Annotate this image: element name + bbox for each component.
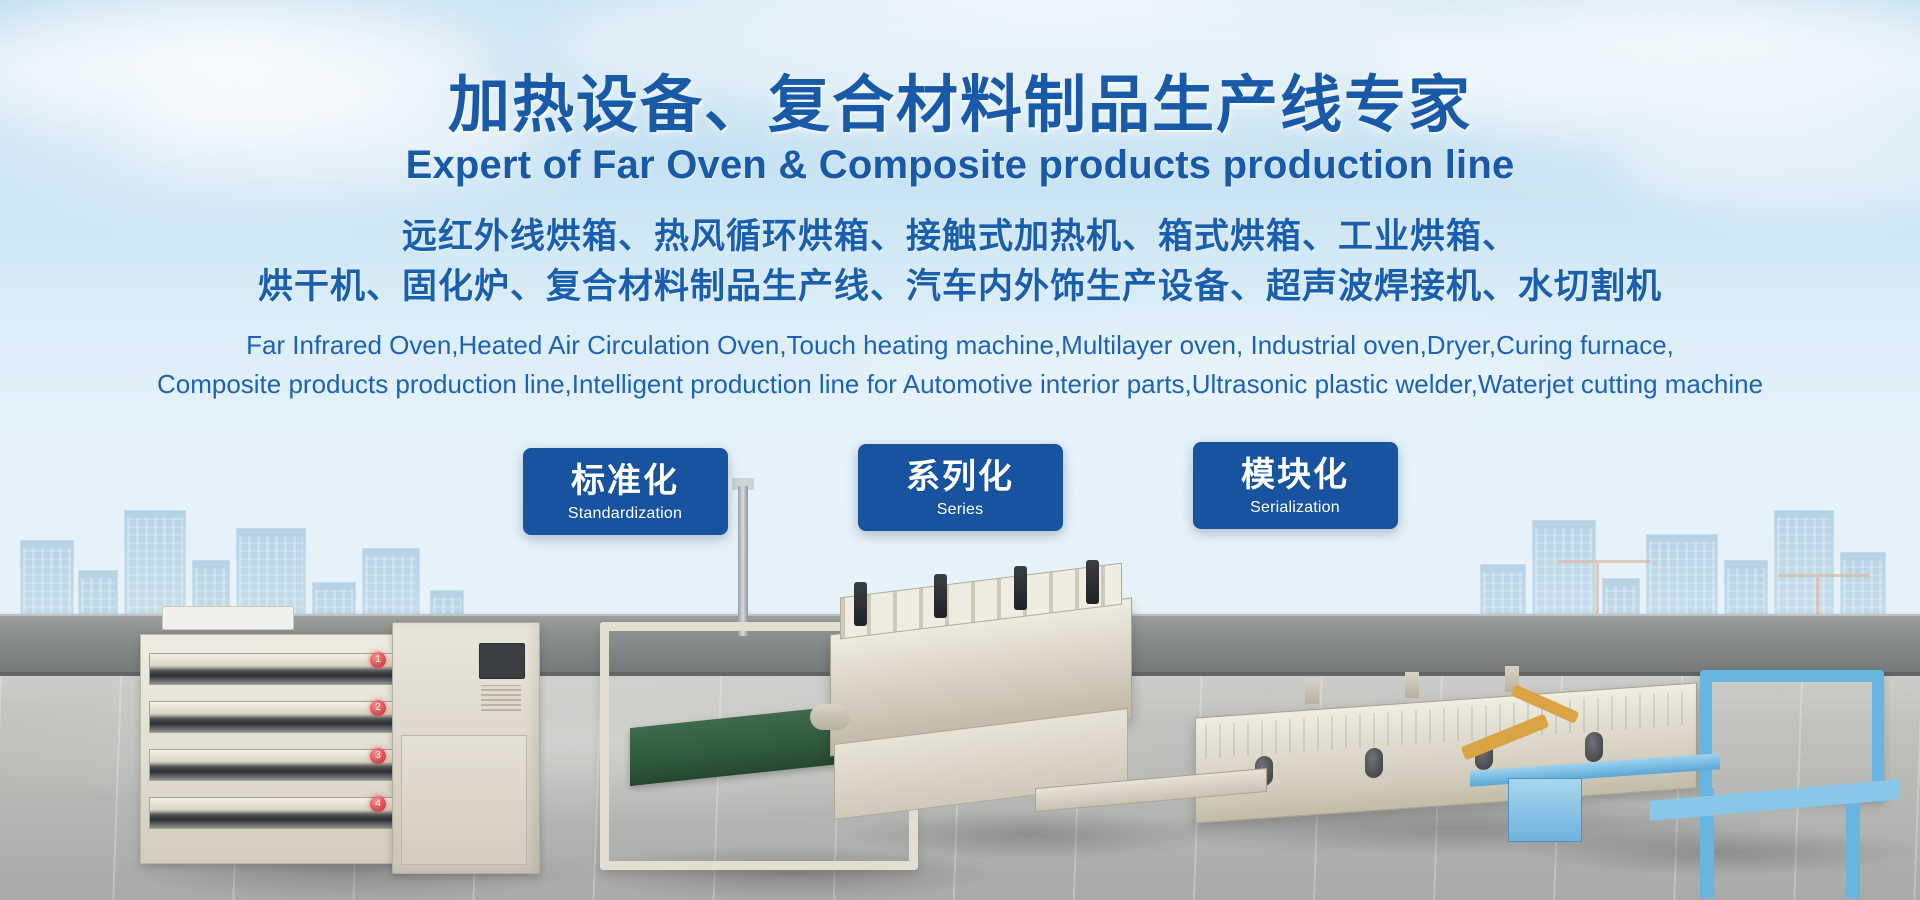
badge-label-en: Serialization <box>1193 499 1398 517</box>
oven-shelf <box>149 701 397 733</box>
platen-post <box>934 574 947 618</box>
badge-label-cn: 系列化 <box>858 458 1063 497</box>
oven-shelf <box>149 797 397 829</box>
multilayer-oven-machine: 1 2 3 4 <box>140 622 540 872</box>
oven-shelf <box>149 653 397 685</box>
vent-grille-icon <box>481 685 521 711</box>
robot-production-cell <box>1500 670 1920 880</box>
oven-shelf <box>149 749 397 781</box>
platen-post <box>1086 560 1099 604</box>
indicator-light-3: 3 <box>370 748 386 764</box>
oven-body <box>140 634 404 864</box>
product-list-cn-line-1: 远红外线烘箱、热风循环烘箱、接触式加热机、箱式烘箱、工业烘箱、 <box>0 213 1920 263</box>
product-list-en-line-2: Composite products production line,Intel… <box>0 365 1920 404</box>
page-title-en: Expert of Far Oven & Composite products … <box>0 143 1920 187</box>
exhaust-duct <box>1305 678 1319 704</box>
gantry-leg <box>1846 788 1860 898</box>
banner-text-block: 加热设备、复合材料制品生产线专家 Expert of Far Oven & Co… <box>0 0 1920 404</box>
control-panel-screen <box>479 643 525 679</box>
inspection-port <box>1365 747 1383 778</box>
oven-control-cabinet <box>392 622 540 874</box>
platen-post <box>854 582 867 626</box>
platen-post <box>1014 566 1027 610</box>
exhaust-duct <box>1405 672 1419 698</box>
product-list-en: Far Infrared Oven,Heated Air Circulation… <box>0 326 1920 404</box>
status-indicator-group: 1 2 3 4 <box>370 652 386 844</box>
badge-label-en: Series <box>858 501 1063 519</box>
badge-label-en: Standardization <box>523 505 728 523</box>
indicator-light-4: 4 <box>370 796 386 812</box>
product-list-en-line-1: Far Infrared Oven,Heated Air Circulation… <box>0 326 1920 365</box>
product-list-cn: 远红外线烘箱、热风循环烘箱、接触式加热机、箱式烘箱、工业烘箱、 烘干机、固化炉、… <box>0 213 1920 312</box>
feed-roller <box>810 704 850 730</box>
badge-serialization[interactable]: 模块化 Serialization <box>1193 442 1398 529</box>
cell-enclosure <box>1508 778 1582 842</box>
cabinet-door <box>401 735 527 865</box>
indicator-light-2: 2 <box>370 700 386 716</box>
badge-series[interactable]: 系列化 Series <box>858 444 1063 531</box>
machine-nameplate <box>162 606 294 630</box>
badge-label-cn: 标准化 <box>523 462 728 501</box>
feature-badge-group: 标准化 Standardization 系列化 Series 模块化 Seria… <box>0 448 1920 535</box>
badge-standardization[interactable]: 标准化 Standardization <box>523 448 728 535</box>
indicator-light-1: 1 <box>370 652 386 668</box>
hero-banner: 1 2 3 4 <box>0 0 1920 900</box>
page-title-cn: 加热设备、复合材料制品生产线专家 <box>0 0 1920 137</box>
product-list-cn-line-2: 烘干机、固化炉、复合材料制品生产线、汽车内外饰生产设备、超声波焊接机、水切割机 <box>0 263 1920 313</box>
badge-label-cn: 模块化 <box>1193 456 1398 495</box>
